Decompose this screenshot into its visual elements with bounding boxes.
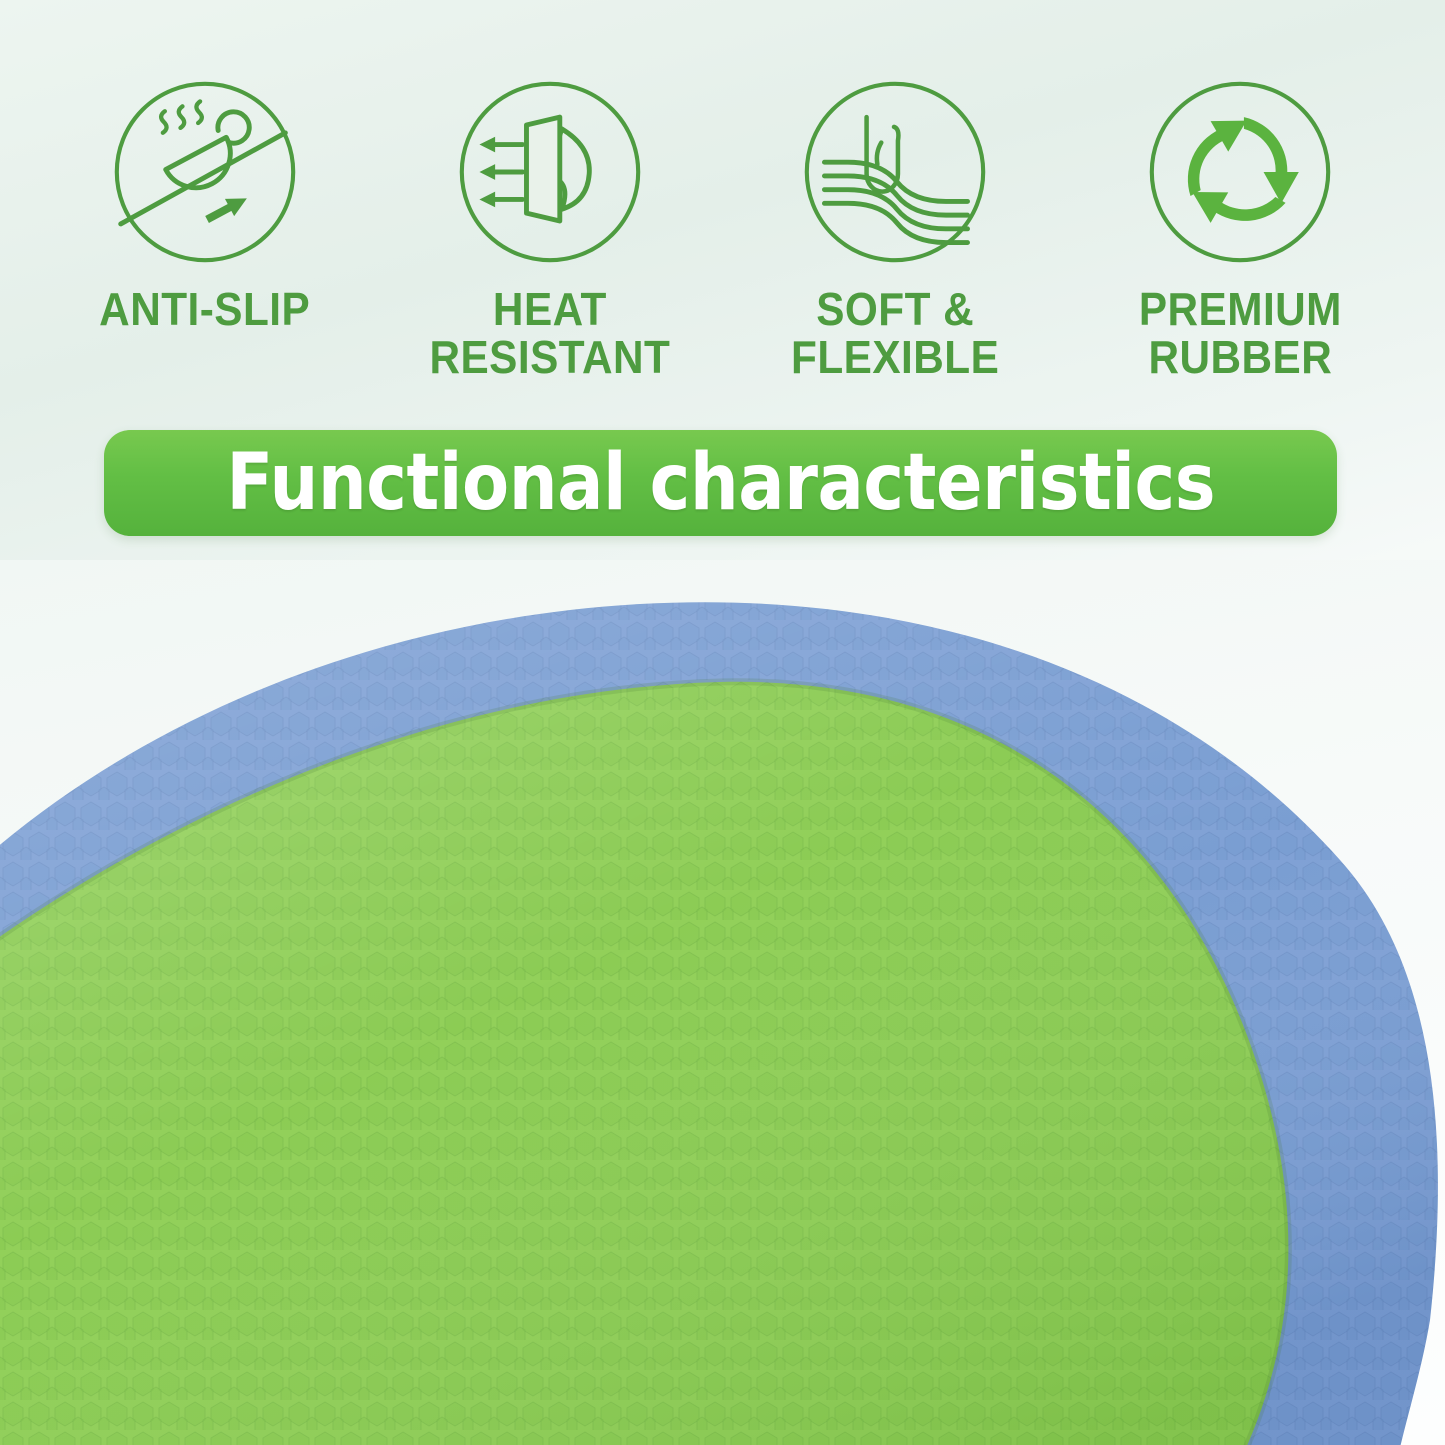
feature-soft-flexible: SOFT & FLEXIBLE [730, 74, 1060, 382]
heat-resistant-flame-barrier-icon [452, 74, 648, 270]
soft-flexible-finger-press-icon [797, 74, 993, 270]
product-infographic: ANTI-SLIP HEAT RESISTANT [0, 0, 1445, 1445]
banner-title: Functional characteristics [226, 444, 1215, 522]
mat-stack [0, 560, 1445, 1445]
mat-illustration [0, 560, 1445, 1445]
product-photo [0, 560, 1445, 1445]
feature-label: PREMIUM RUBBER [1138, 286, 1341, 382]
feature-premium-rubber: PREMIUM RUBBER [1075, 74, 1405, 382]
premium-rubber-recycle-arrows-icon [1142, 74, 1338, 270]
feature-label: HEAT RESISTANT [430, 286, 671, 382]
feature-label: SOFT & FLEXIBLE [791, 286, 999, 382]
anti-slip-cup-incline-icon [107, 74, 303, 270]
section-banner: Functional characteristics [104, 430, 1337, 536]
feature-heat-resistant: HEAT RESISTANT [385, 74, 715, 382]
feature-list: ANTI-SLIP HEAT RESISTANT [0, 74, 1445, 394]
feature-label: ANTI-SLIP [99, 286, 310, 334]
feature-anti-slip: ANTI-SLIP [40, 74, 370, 334]
